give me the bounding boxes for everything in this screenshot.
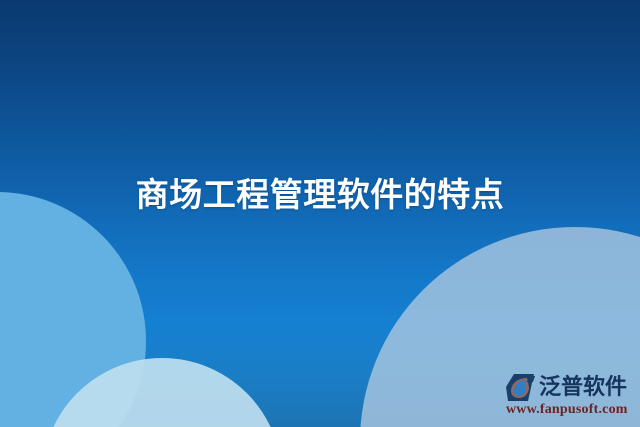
fanpu-logo-icon [506,374,536,401]
brand-name: 泛普软件 [539,374,627,400]
brand-url: www.fanpusoft.com [506,402,638,418]
watermark-logo: 泛普软件 www.fanpusoft.com [506,372,638,422]
slide-canvas: 商场工程管理软件的特点 泛普软件 www.fanpusoft.com [0,0,640,427]
slide-title: 商场工程管理软件的特点 [0,172,640,218]
